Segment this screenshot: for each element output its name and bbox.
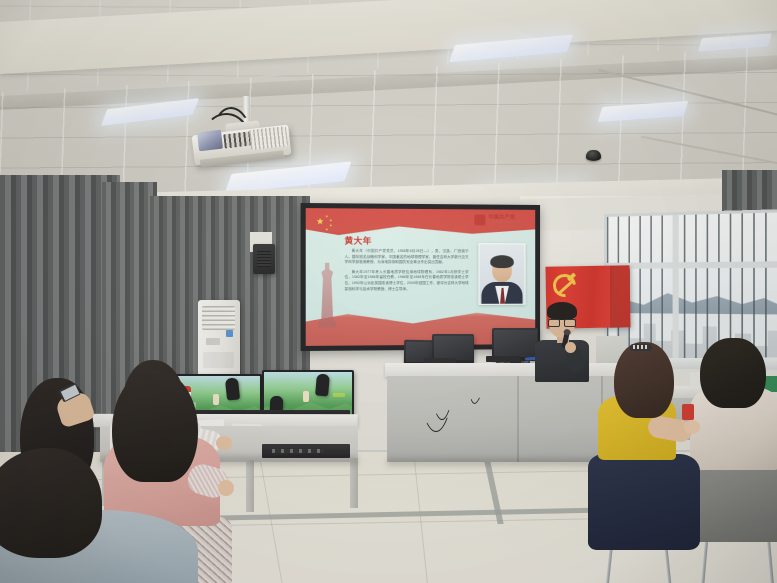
projector-vent [249,126,288,150]
classroom-photo-scene: ★ ★ ★ ★ ★ 中国共产党 Communist Party of China… [0,0,777,583]
desk-leg [246,460,254,512]
projector-lens [197,130,223,152]
ac-badge [226,330,233,337]
presenter-hair [547,302,577,320]
keyboard[interactable] [486,356,520,362]
attendee-skirt [588,454,700,550]
desk-leg [350,458,358,508]
hammer-and-sickle-icon [553,272,579,294]
presenter-hand [565,342,576,353]
screen-hud [333,393,345,398]
headset[interactable] [315,373,330,396]
attendee-hand [218,480,234,496]
cpc-emblem-icon [475,214,486,225]
portrait-hair [490,255,513,268]
projector-ports [223,132,250,149]
attendee-hand [684,420,700,434]
stool-leg [767,540,776,583]
cpc-logo: 中国共产党 Communist Party of China [475,213,528,226]
wall-speaker-icon [253,244,275,274]
slide-portrait-photo [478,243,525,305]
flag-star-small: ★ [329,224,332,228]
dome-camera-icon [586,150,601,161]
floor-tile-line [413,452,428,583]
red-cup [682,404,694,420]
window-mullion-horizontal [607,261,777,269]
foreground-person [0,448,202,583]
desk-panel-seam [517,376,519,462]
flag-star-small: ★ [325,228,328,232]
flag-fold-shadow [610,266,632,328]
ac-control-panel[interactable] [206,338,220,345]
flag-star-small: ★ [325,215,328,219]
ac-grille [202,306,235,330]
slide-paragraph: 黄大年（中国共产党党员，1958年8月28日—），男、汉族，广西南宁人。国际知名… [344,249,468,266]
slide-title: 黄大年 [344,235,371,247]
cpc-logo-subtext: Communist Party of China [488,220,522,223]
screen-character [303,391,309,402]
attendee-right-yellow [596,342,714,582]
china-flag-icon: ★ ★ ★ ★ ★ [314,214,351,236]
attendee-hair [614,342,674,418]
slide-body-text: 黄大年（中国共产党党员，1958年8月28日—），男、汉族，广西南宁人。国际知名… [344,249,468,297]
flag-star-small: ★ [329,219,332,223]
hair-clip [630,344,652,351]
stool-leg [664,546,674,583]
flag-star-large: ★ [316,217,324,226]
foreground-person-hair [0,448,102,558]
eyeglasses-icon [548,319,576,325]
stool-leg [602,546,613,583]
presentation-slide: ★ ★ ★ ★ ★ 中国共产党 Communist Party of China… [306,208,535,346]
slide-paragraph: 黄大年1977年考入长春地质学院应用地球物理系，1982年1月获学士学位，198… [344,270,468,293]
presenter-speaker [533,302,591,378]
